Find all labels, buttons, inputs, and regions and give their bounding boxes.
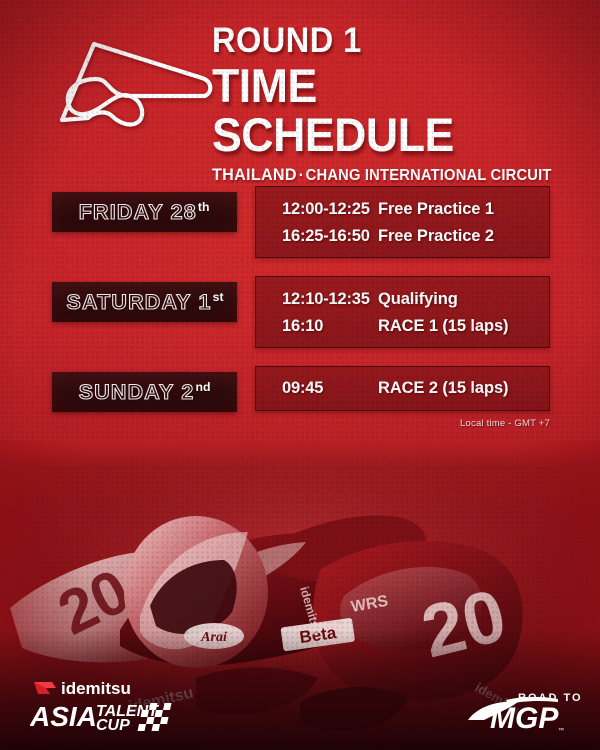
svg-text:ASIA: ASIA bbox=[30, 701, 97, 732]
list-item: 12:10-12:35 Qualifying bbox=[256, 286, 549, 313]
poster-header: ROUND 1 TIME SCHEDULE THAILAND·CHANG INT… bbox=[0, 0, 600, 150]
svg-text:™: ™ bbox=[558, 727, 564, 734]
day-label: FRIDAY 28th bbox=[79, 200, 210, 225]
session-time: 16:10 bbox=[256, 317, 378, 336]
event-subtitle: THAILAND·CHANG INTERNATIONAL CIRCUIT bbox=[212, 165, 564, 186]
day-label: SUNDAY 2nd bbox=[79, 380, 211, 405]
session-name: RACE 2 (15 laps) bbox=[378, 379, 508, 398]
day-ordinal: th bbox=[198, 200, 210, 214]
day-label-box: SUNDAY 2nd bbox=[52, 372, 237, 412]
table-row: SATURDAY 1st 12:10-12:35 Qualifying 16:1… bbox=[0, 276, 600, 366]
svg-text:CUP: CUP bbox=[96, 717, 130, 734]
session-name: Free Practice 1 bbox=[378, 200, 494, 219]
day-name: SATURDAY 1 bbox=[66, 291, 211, 314]
day-ordinal: st bbox=[212, 290, 223, 304]
session-time: 09:45 bbox=[256, 379, 378, 398]
country-label: THAILAND bbox=[212, 165, 297, 184]
session-time: 16:25-16:50 bbox=[256, 227, 378, 246]
separator-dot: · bbox=[297, 167, 306, 184]
title-block: ROUND 1 TIME SCHEDULE THAILAND·CHANG INT… bbox=[212, 22, 582, 186]
day-ordinal: nd bbox=[195, 380, 210, 394]
schedule-table: FRIDAY 28th 12:00-12:25 Free Practice 1 … bbox=[0, 186, 600, 428]
circuit-outline-icon bbox=[34, 26, 224, 136]
day-label: SATURDAY 1st bbox=[66, 290, 223, 315]
session-name: RACE 1 (15 laps) bbox=[378, 317, 508, 336]
session-name: Free Practice 2 bbox=[378, 227, 494, 246]
poster-root: ROUND 1 TIME SCHEDULE THAILAND·CHANG INT… bbox=[0, 0, 600, 750]
list-item: 16:25-16:50 Free Practice 2 bbox=[256, 223, 549, 250]
table-row: SUNDAY 2nd 09:45 RACE 2 (15 laps) Local … bbox=[0, 366, 600, 428]
list-item: 09:45 RACE 2 (15 laps) bbox=[256, 379, 549, 398]
idemitsu-asia-talent-cup-logo: idemitsu ASIA TALENT CUP bbox=[30, 676, 180, 734]
svg-text:MGP: MGP bbox=[490, 702, 559, 734]
round-label: ROUND 1 bbox=[212, 22, 556, 60]
day-label-box: SATURDAY 1st bbox=[52, 282, 237, 322]
session-time: 12:00-12:25 bbox=[256, 200, 378, 219]
day-name: SUNDAY 2 bbox=[79, 381, 195, 404]
session-time: 12:10-12:35 bbox=[256, 290, 378, 309]
list-item: 12:00-12:25 Free Practice 1 bbox=[256, 196, 549, 223]
day-label-box: FRIDAY 28th bbox=[52, 192, 237, 232]
list-item: 16:10 RACE 1 (15 laps) bbox=[256, 313, 549, 340]
session-list: 12:00-12:25 Free Practice 1 16:25-16:50 … bbox=[255, 186, 550, 258]
page-title: TIME SCHEDULE bbox=[212, 61, 564, 159]
session-list: 12:10-12:35 Qualifying 16:10 RACE 1 (15 … bbox=[255, 276, 550, 348]
session-list: 09:45 RACE 2 (15 laps) bbox=[255, 366, 550, 411]
day-name: FRIDAY 28 bbox=[79, 201, 197, 224]
svg-text:Arai: Arai bbox=[200, 630, 227, 645]
road-to-motogp-logo: ROAD TO MGP ™ bbox=[466, 686, 582, 734]
table-row: FRIDAY 28th 12:00-12:25 Free Practice 1 … bbox=[0, 186, 600, 276]
local-time-note: Local time - GMT +7 bbox=[460, 418, 550, 429]
svg-text:idemitsu: idemitsu bbox=[61, 679, 131, 698]
session-name: Qualifying bbox=[378, 290, 458, 309]
circuit-label: CHANG INTERNATIONAL CIRCUIT bbox=[306, 167, 552, 184]
